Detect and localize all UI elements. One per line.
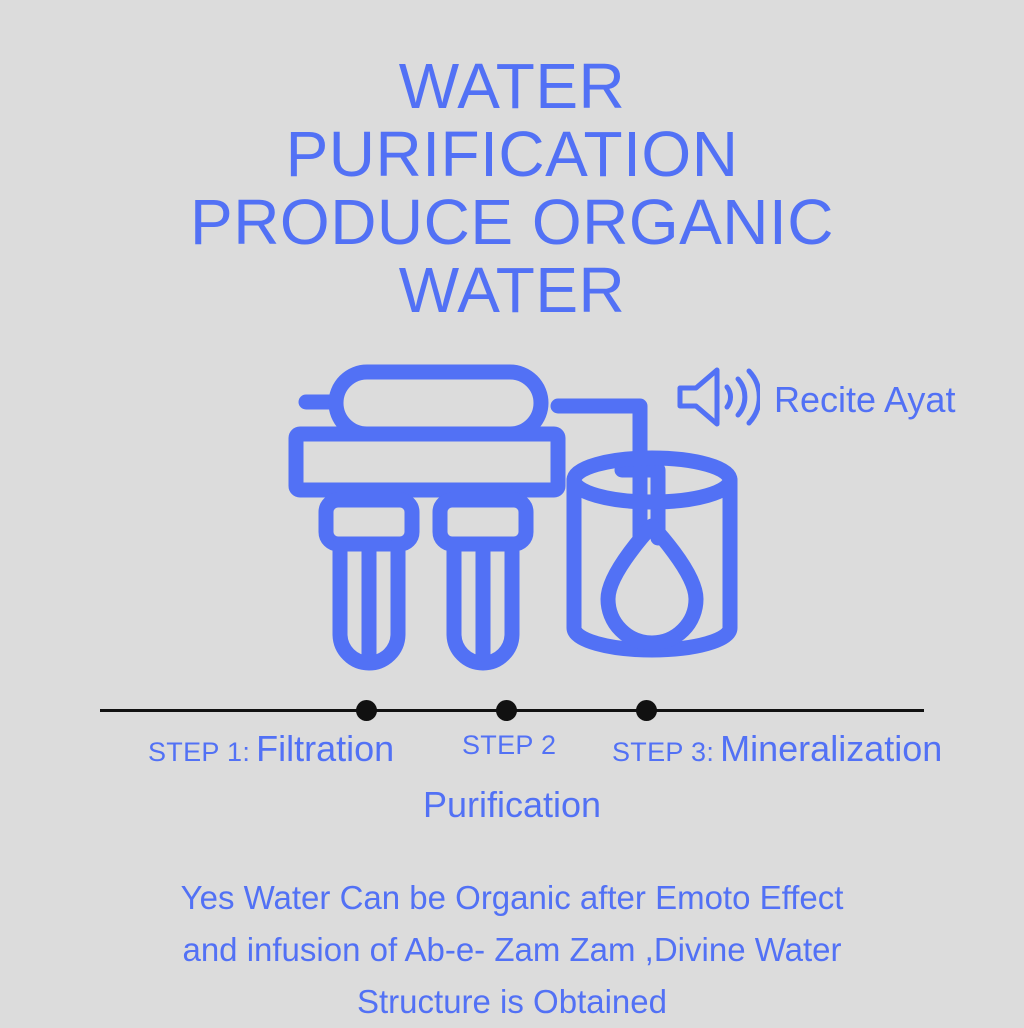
step-2-label: STEP 2 <box>462 730 556 761</box>
footer-paragraph: Yes Water Can be Organic after Emoto Eff… <box>62 872 962 1028</box>
filter-system-svg <box>288 358 738 688</box>
step-2-subname: Purification <box>0 784 1024 826</box>
step-2-dot[interactable] <box>496 700 517 721</box>
manifold-bar-icon <box>296 434 558 490</box>
step-3-kicker: STEP 3: <box>612 737 714 768</box>
footer-line-3: Structure is Obtained <box>62 976 962 1028</box>
step-1-kicker: STEP 1: <box>148 737 250 768</box>
title-line-3: PRODUCE ORGANIC <box>0 188 1024 256</box>
title-line-1: WATER <box>0 52 1024 120</box>
sound-wave-arc-3 <box>749 371 759 423</box>
pressure-tank-icon <box>336 372 541 434</box>
recite-ayat-label: Recite Ayat <box>774 380 955 420</box>
step-3-name: Mineralization <box>720 728 942 770</box>
poster-canvas: WATER PURIFICATION PRODUCE ORGANIC WATER <box>0 0 1024 1024</box>
water-droplet-icon <box>608 526 696 643</box>
title-line-2: PURIFICATION <box>0 120 1024 188</box>
speaker-waves-icon <box>676 366 760 433</box>
step-2-kicker: STEP 2 <box>462 730 556 761</box>
footer-line-1: Yes Water Can be Organic after Emoto Eff… <box>62 872 962 924</box>
step-3-dot[interactable] <box>636 700 657 721</box>
sound-wave-arc-2 <box>738 379 745 415</box>
step-1-dot[interactable] <box>356 700 377 721</box>
poster-title: WATER PURIFICATION PRODUCE ORGANIC WATER <box>0 52 1024 324</box>
water-purification-system-illustration <box>288 358 738 688</box>
title-line-4: WATER <box>0 256 1024 324</box>
process-timeline <box>100 709 924 712</box>
speaker-cone-shape <box>680 370 717 424</box>
sound-wave-arc-1 <box>727 387 731 407</box>
recite-ayat-control[interactable]: Recite Ayat <box>676 366 955 433</box>
footer-line-2: and infusion of Ab-e- Zam Zam ,Divine Wa… <box>62 924 962 976</box>
step-1-label: STEP 1: Filtration <box>148 728 394 770</box>
step-3-label: STEP 3: Mineralization <box>612 728 942 770</box>
step-1-name: Filtration <box>256 728 394 770</box>
